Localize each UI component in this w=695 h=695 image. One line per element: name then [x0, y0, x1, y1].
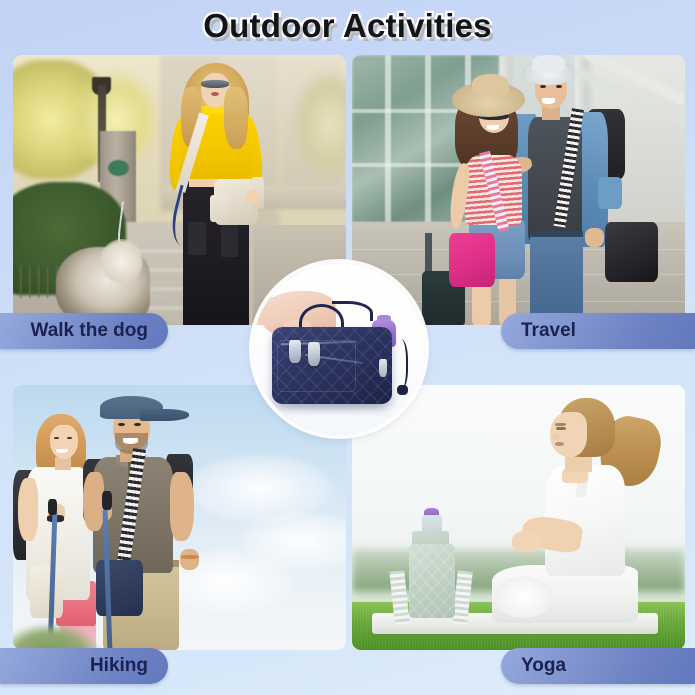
zipper-pull	[308, 342, 320, 366]
title-bar: Outdoor Activities	[0, 2, 695, 50]
dog-fur-tuft	[100, 239, 143, 285]
man-jeans	[530, 233, 583, 325]
label-text: Travel	[521, 320, 576, 342]
label-text: Walk the dog	[30, 320, 148, 342]
man-smile	[542, 98, 555, 103]
label-travel: Travel	[501, 313, 695, 349]
bag-front-pocket	[210, 195, 231, 222]
man-belt	[530, 231, 583, 237]
navy-sling-bag	[96, 560, 143, 616]
product-inset-circle	[253, 263, 425, 435]
zipper-pull	[289, 340, 301, 362]
man-eye	[540, 85, 546, 88]
suitcase-handle	[425, 233, 432, 276]
photo-panel-yoga	[352, 385, 685, 650]
label-hiking: Hiking	[0, 648, 168, 684]
scene-travel	[352, 55, 685, 325]
hat-crown	[472, 74, 509, 96]
cord-tip	[397, 385, 407, 395]
woman-lips	[555, 442, 564, 446]
bag-shoulder-strap	[332, 301, 373, 322]
scene-hiking	[13, 385, 346, 650]
woman-smile	[487, 125, 499, 129]
label-walk-the-dog: Walk the dog	[0, 313, 168, 349]
crossed-knee	[495, 576, 552, 618]
infographic-poster: Outdoor Activities	[0, 0, 695, 695]
scene-yoga	[352, 385, 685, 650]
pink-sling-bag	[449, 233, 496, 287]
trekking-pole-grip	[48, 499, 57, 515]
woman-face	[50, 425, 78, 459]
woman-right-hand	[246, 190, 259, 204]
window-mullion	[385, 55, 390, 222]
woman-hair-strand	[224, 87, 247, 149]
page-title: Outdoor Activities	[203, 7, 491, 45]
label-text: Hiking	[90, 655, 148, 677]
bag-quilt-pattern	[409, 544, 456, 618]
man-hand	[585, 228, 604, 247]
man-eye	[556, 85, 562, 88]
adjuster-cord	[391, 339, 408, 391]
trekking-pole-grip	[102, 491, 111, 510]
man-right-arm	[170, 472, 195, 541]
tree-foliage	[293, 71, 346, 179]
foreground-grass	[13, 624, 100, 651]
beige-sling-bag	[30, 565, 63, 618]
black-sling-bag	[605, 222, 658, 281]
label-text: Yoga	[521, 655, 566, 677]
hat-crown	[532, 55, 565, 71]
woman-eye	[556, 427, 566, 430]
sunglasses	[201, 80, 229, 88]
window-mullion	[425, 55, 430, 222]
man-smile	[123, 438, 138, 444]
man-right-hand	[180, 549, 200, 570]
man-rolled-sleeve	[598, 177, 621, 209]
label-yoga: Yoga	[501, 648, 695, 684]
cap-brim	[140, 409, 190, 421]
woman-nose	[552, 433, 561, 440]
zipper-pull	[379, 359, 388, 376]
woman-eyebrow	[555, 423, 566, 425]
pants-pocket	[221, 225, 238, 257]
woman-arm	[18, 478, 38, 542]
woman-lips	[211, 92, 219, 96]
photo-panel-travel	[352, 55, 685, 325]
pillar-plaque	[108, 160, 129, 176]
woman-hand-mudra	[512, 531, 542, 552]
photo-panel-hiking	[13, 385, 346, 650]
